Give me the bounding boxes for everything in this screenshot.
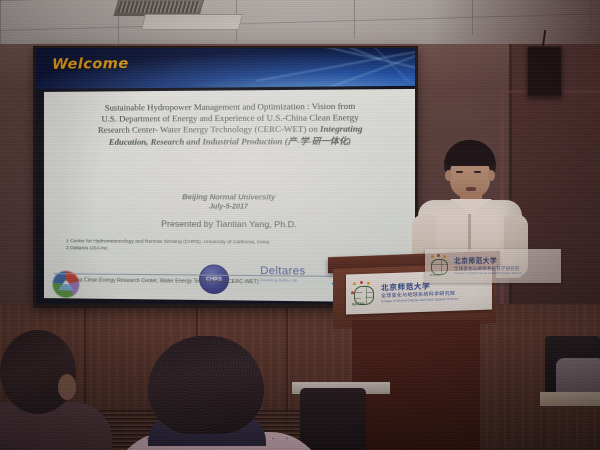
presenter-fringe [445,146,495,166]
wall-banner-gcess-icon: GCESS [428,255,450,277]
audience-member-center [118,336,318,450]
audience-member-left [0,330,100,450]
desk-right [540,392,600,406]
audience-center-hair-texture [148,336,264,434]
wall-banner-text: 北京师范大学 全球变化与地球系统科学研究院 College of Global … [454,257,522,276]
cerc-wet-logo-icon [52,270,80,298]
slide-title-line-4: Education, Research and Industrial Produ… [58,135,405,148]
wall-banner-university: 北京师范大学 [454,257,522,266]
wall-banner-institute-en: College of Global Change and Earth Syste… [454,272,522,275]
wall-banner-institute: 全球变化与地球系统科学研究院 [454,266,522,272]
ceiling-panel [141,14,243,30]
wall-banner-gcess-label: GCESS [430,273,441,277]
audience-left-head [0,330,76,414]
presenter-mouth [466,187,476,191]
audience-left-body [0,402,112,450]
wall-banner: GCESS 北京师范大学 全球变化与地球系统科学研究院 College of G… [425,249,561,283]
presentation-room-photo: Welcome Sustainable Hydropower Managemen… [0,0,600,450]
gcess-logo-icon: GCESS [350,281,376,308]
audience-center-head [148,336,264,434]
slide-welcome-title: Welcome [52,56,129,73]
venue-date: July-5-2017 [58,202,405,213]
slide-title: Sustainable Hydropower Management and Op… [58,100,405,147]
slide-venue: Beijing Normal University July-5-2017 [58,192,405,213]
presenter-ear-left [445,170,452,181]
podium-banner-text: 北京师范大学 全球变化与地球系统科学研究院 College of Global … [381,280,459,303]
presenter-ear-right [488,170,495,181]
slide-presenter: Presented by Tiantian Yang, Ph.D. [58,218,405,230]
gcess-logo-label: GCESS [352,302,365,306]
audience-left-ear [58,374,76,400]
wall-speaker-icon [527,46,562,97]
slide-header-banner: Welcome [36,48,415,89]
slide-title-line-3: Research Center- Water Energy Technology… [58,124,405,137]
